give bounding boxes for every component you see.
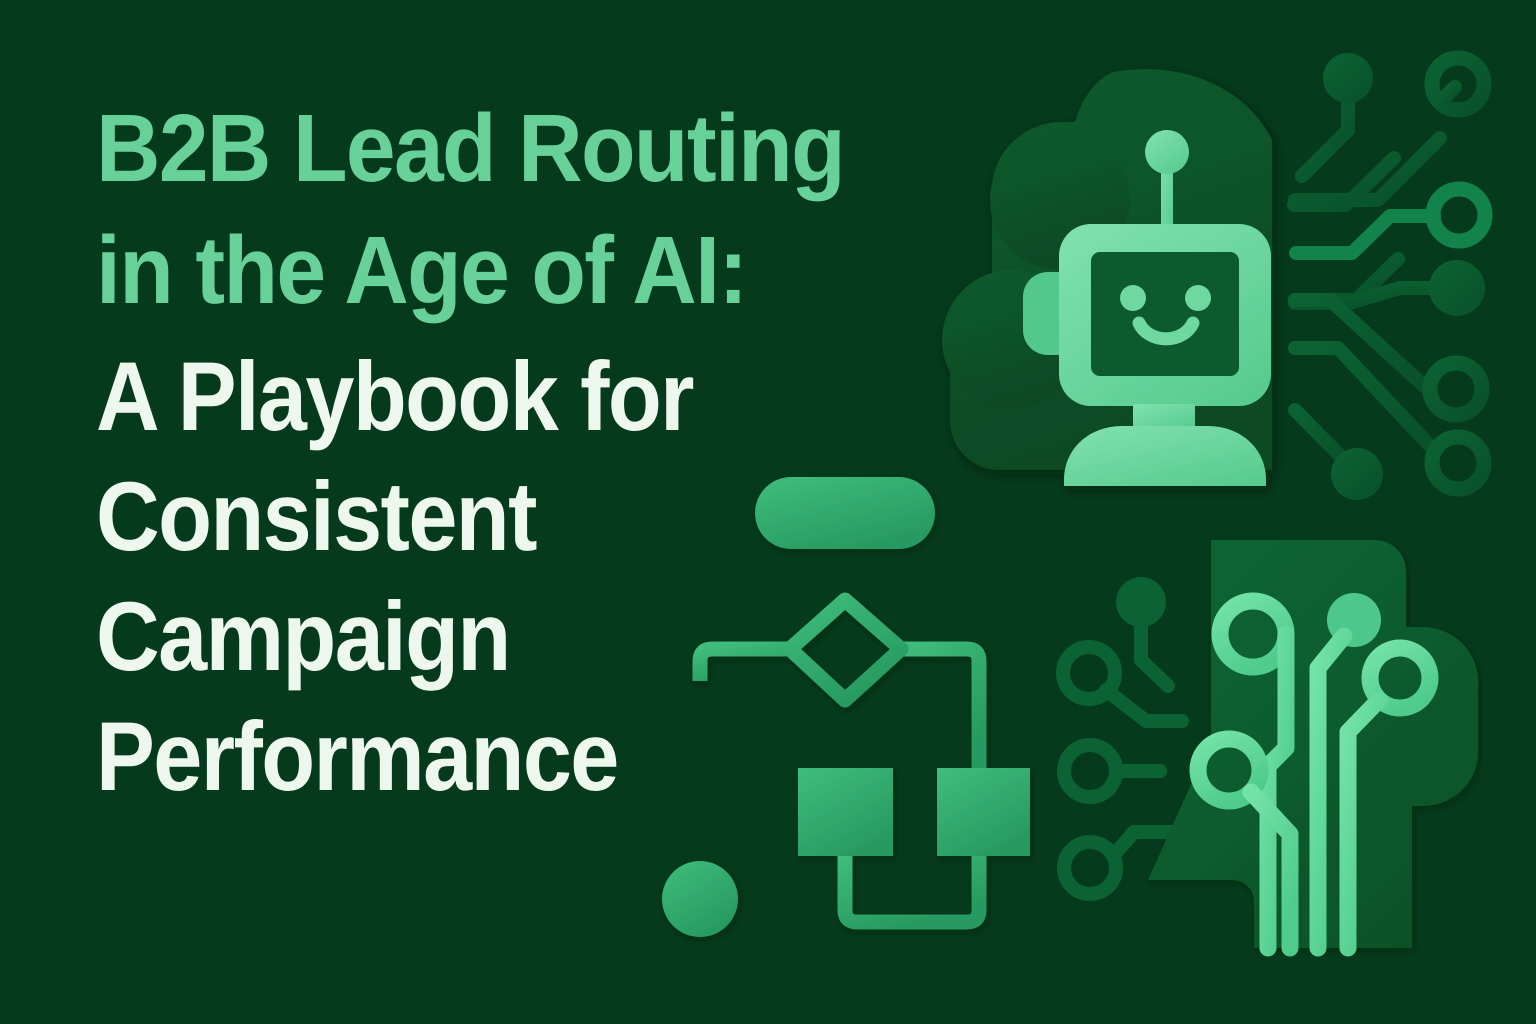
page-title: A Playbook for Consistent Campaign Perfo… <box>96 336 1006 816</box>
title-line-1: A Playbook for <box>96 336 915 456</box>
eye-left-icon <box>1120 285 1146 311</box>
title-line-3: Campaign <box>96 576 915 696</box>
eyebrow-line-2: in the Age of AI: <box>96 210 942 332</box>
solid-dot-1-icon <box>1323 53 1373 103</box>
ear-left-icon <box>1023 272 1060 355</box>
hero-text-block: B2B Lead Routing in the Age of AI: A Pla… <box>96 88 1006 816</box>
eyebrow-heading: B2B Lead Routing in the Age of AI: <box>96 88 1006 332</box>
title-line-2: Consistent <box>96 456 915 576</box>
eyebrow-line-1: B2B Lead Routing <box>96 88 942 210</box>
solid-dot-3-icon <box>1331 448 1383 500</box>
robot-screen <box>1091 252 1239 376</box>
solid-dot-2-icon <box>1429 260 1485 316</box>
hero-banner: B2B Lead Routing in the Age of AI: A Pla… <box>0 0 1536 1024</box>
title-line-4: Performance <box>96 696 915 816</box>
robot-base <box>1064 426 1266 486</box>
flowchart-terminal-circle <box>662 861 738 937</box>
eye-right-icon <box>1185 285 1211 311</box>
